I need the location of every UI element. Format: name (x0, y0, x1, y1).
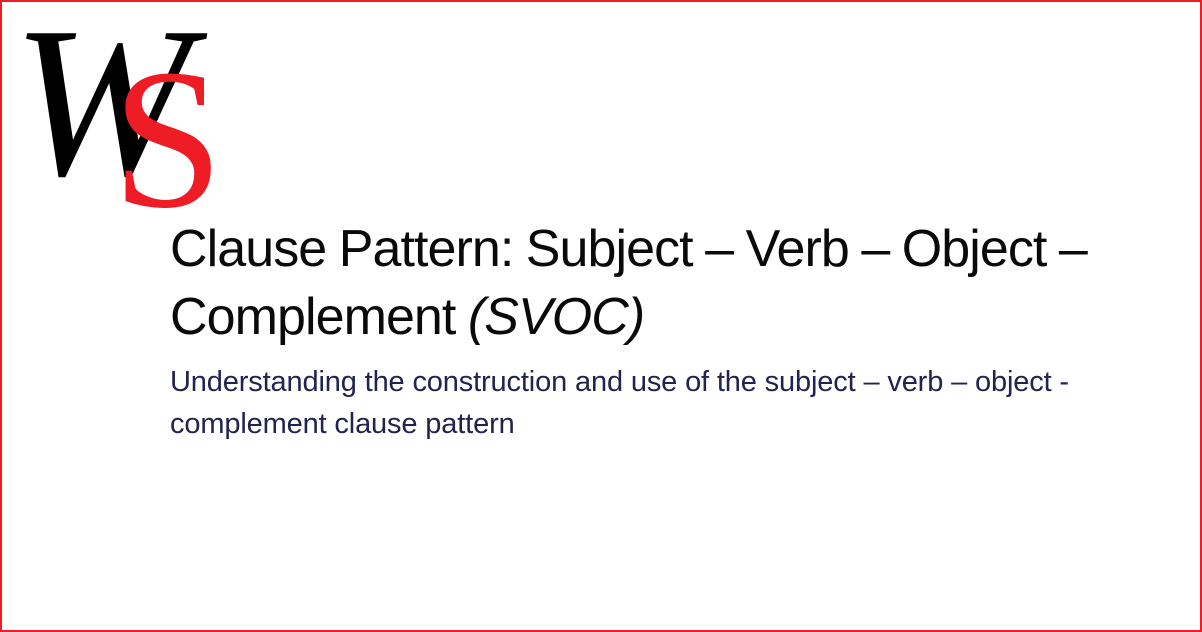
page-title: Clause Pattern: Subject – Verb – Object … (170, 215, 1120, 351)
slide-text-block: Clause Pattern: Subject – Verb – Object … (170, 215, 1120, 445)
logo-letter-s-icon: S (112, 40, 223, 240)
title-slide: W S Clause Pattern: Subject – Verb – Obj… (0, 0, 1202, 632)
ws-monogram-logo: W S (12, 12, 202, 207)
page-subtitle: Understanding the construction and use o… (170, 361, 1120, 445)
page-title-abbreviation: (SVOC) (468, 288, 644, 346)
